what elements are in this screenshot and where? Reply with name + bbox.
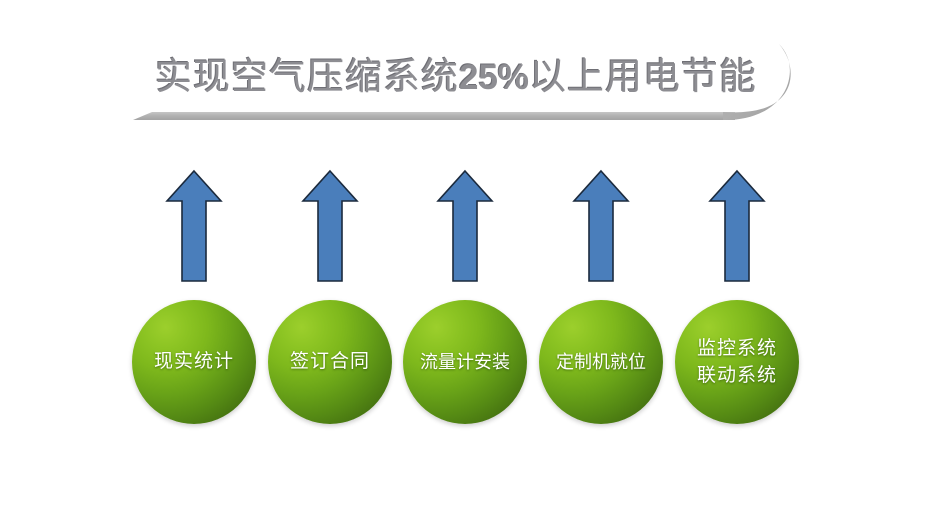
- process-flow: 现实统计 签订合同 流量计安装 定: [0, 0, 945, 529]
- step-label: 签订合同: [254, 300, 406, 424]
- up-arrow-icon: [708, 168, 766, 284]
- flow-step-3[interactable]: 流量计安装: [400, 168, 530, 430]
- step-bubble[interactable]: 定制机就位: [539, 300, 663, 424]
- step-bubble[interactable]: 监控系统 联动系统: [675, 300, 799, 424]
- step-bubble[interactable]: 流量计安装: [403, 300, 527, 424]
- up-arrow-icon: [301, 168, 359, 284]
- up-arrow-icon: [572, 168, 630, 284]
- flow-step-4[interactable]: 定制机就位: [536, 168, 666, 430]
- step-bubble[interactable]: 现实统计: [132, 300, 256, 424]
- flow-step-5[interactable]: 监控系统 联动系统: [672, 168, 802, 430]
- flow-step-1[interactable]: 现实统计: [129, 168, 259, 430]
- step-label: 定制机就位: [525, 300, 677, 424]
- step-label: 现实统计: [118, 300, 270, 424]
- step-bubble[interactable]: 签订合同: [268, 300, 392, 424]
- step-label: 流量计安装: [389, 300, 541, 424]
- flow-step-2[interactable]: 签订合同: [265, 168, 395, 430]
- step-label: 监控系统 联动系统: [661, 300, 813, 424]
- up-arrow-icon: [165, 168, 223, 284]
- slide-canvas: 实现空气压缩系统25%以上用电节能 现实统计 签订合同: [0, 0, 945, 529]
- up-arrow-icon: [436, 168, 494, 284]
